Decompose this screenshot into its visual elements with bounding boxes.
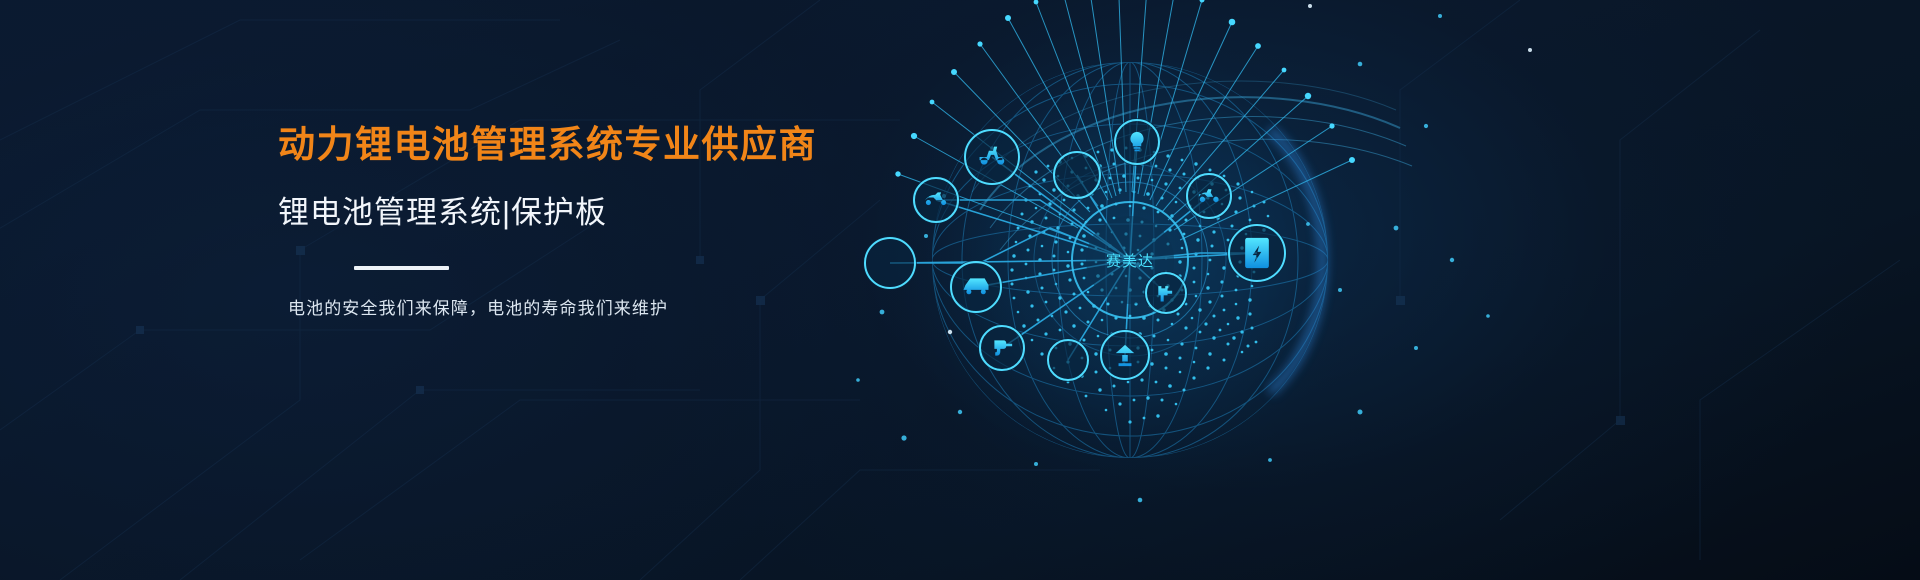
lightbulb-icon: [1113, 118, 1161, 166]
tagline: 电池的安全我们来保障，电池的寿命我们来维护: [288, 300, 898, 317]
empty-node-icon: [1052, 150, 1102, 200]
page-title: 动力锂电池管理系统专业供应商: [278, 126, 898, 163]
drill-icon: [978, 324, 1026, 372]
car-icon: [949, 260, 1003, 314]
hub-label: 赛美达: [1106, 253, 1154, 270]
hero-copy: 动力锂电池管理系统专业供应商 锂电池管理系统|保护板 电池的安全我们来保障，电池…: [278, 126, 898, 317]
ebike-icon: [912, 176, 960, 224]
empty-node-icon: [863, 236, 917, 290]
empty-node-icon: [1046, 338, 1090, 382]
power-tool-icon: [1144, 271, 1188, 315]
divider: [354, 266, 449, 270]
page-subtitle: 锂电池管理系统|保护板: [278, 197, 898, 228]
scooter-icon: [963, 128, 1021, 186]
motorbike-icon: [1185, 172, 1233, 220]
lamp-icon: [1099, 329, 1151, 381]
network-globe-illustration: 赛美达: [840, 0, 1700, 580]
battery-icon: [1227, 223, 1287, 283]
hero-banner: 动力锂电池管理系统专业供应商 锂电池管理系统|保护板 电池的安全我们来保障，电池…: [0, 0, 1920, 580]
